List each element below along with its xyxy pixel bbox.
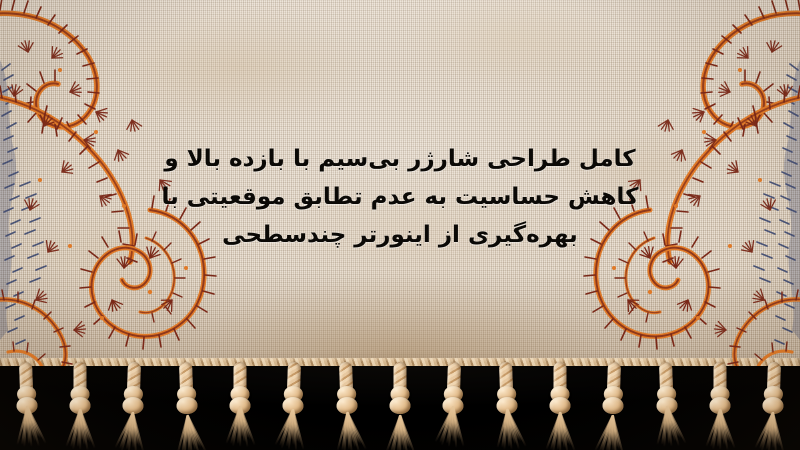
tassel-tail-threads (117, 411, 148, 450)
caption-text-block: کامل طراحی شارژر بی‌سیم با بازده بالا و … (150, 140, 650, 254)
tassel-tail-threads (492, 408, 523, 450)
tassel (110, 359, 157, 450)
tassel-knot (390, 397, 411, 414)
tassel-tail-threads (225, 406, 255, 448)
tassel-knot (176, 397, 198, 415)
tassel (323, 359, 370, 450)
tassel-knot (603, 397, 625, 415)
tassel (3, 359, 50, 450)
scroll-s-sweep (663, 86, 800, 262)
tassel-tail-threads (385, 415, 415, 450)
scroll-s-sweep (0, 86, 137, 262)
tassel-tail-threads (437, 405, 468, 448)
caption-line-2: کاهش حساسیت به عدم تطابق موقعیتی با (150, 178, 650, 216)
tassel (698, 360, 742, 450)
tassel-tail-threads (12, 405, 43, 448)
textile-banner: کامل طراحی شارژر بی‌سیم با بازده بالا و … (0, 0, 800, 450)
tassel-tail-threads (277, 408, 308, 450)
tassel-tail-threads (545, 412, 575, 450)
tassel-tail-threads (332, 411, 363, 450)
tassel (483, 359, 530, 450)
tassel-tail-threads (757, 411, 788, 450)
tassel (750, 359, 797, 450)
tassel-fringe-row (0, 360, 800, 450)
tassel (590, 359, 637, 450)
caption-line-3: بهره‌گیری از اینورتر چندسطحی (150, 216, 650, 254)
tassel-tail-threads (705, 409, 735, 450)
tassel (218, 360, 262, 450)
caption-line-1: کامل طراحی شارژر بی‌سیم با بازده بالا و (150, 140, 650, 178)
tassel (643, 359, 690, 450)
tassel-tail-threads (172, 414, 203, 450)
tassel-tail-threads (652, 405, 683, 448)
tassel-tail-threads (65, 409, 95, 450)
tassel (270, 359, 317, 450)
tassel (163, 359, 210, 450)
tassel-tail-threads (597, 414, 628, 450)
tassel (378, 360, 422, 450)
tassel (538, 360, 582, 450)
tassel (58, 360, 102, 450)
tassel (430, 359, 477, 450)
